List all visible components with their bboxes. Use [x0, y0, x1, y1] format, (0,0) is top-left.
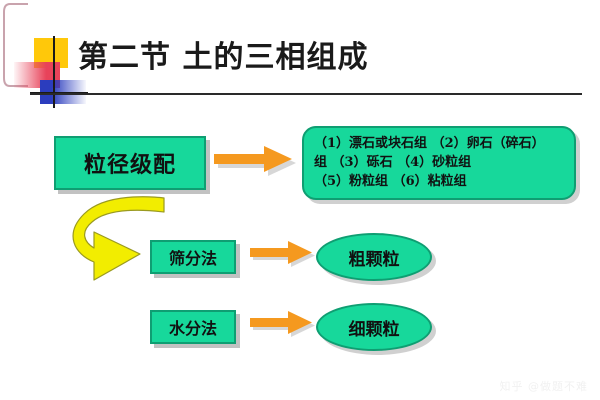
slide-canvas: 第二节 土的三相组成 粒径级配 （1）漂石或块石组 （2）卵石（碎石） 组 （3… [0, 0, 600, 400]
panel-line-3: （5）粉粒组 （6）粘粒组 [314, 172, 564, 191]
decoration-vertical-line [53, 36, 55, 108]
watermark: 知乎 @做题不难 [500, 378, 589, 394]
arrow-right-icon-middle [250, 241, 318, 273]
arrow-right-icon-bottom [250, 311, 318, 343]
node-granular-gradation[interactable]: 粒径级配 [54, 136, 206, 190]
page-title: 第二节 土的三相组成 [78, 38, 368, 78]
panel-soil-classification: （1）漂石或块石组 （2）卵石（碎石） 组 （3）砾石 （4）砂粒组 （5）粉粒… [302, 126, 576, 200]
node-sieve-method[interactable]: 筛分法 [150, 240, 236, 274]
panel-line-1: （1）漂石或块石组 （2）卵石（碎石） [314, 134, 564, 153]
panel-line-2: 组 （3）砾石 （4）砂粒组 [314, 153, 564, 172]
node-coarse-particles[interactable]: 粗颗粒 [316, 233, 432, 281]
title-underline [30, 93, 582, 95]
node-fine-particles[interactable]: 细颗粒 [316, 303, 432, 351]
node-water-method[interactable]: 水分法 [150, 310, 236, 344]
arrow-right-icon-top [214, 146, 300, 182]
